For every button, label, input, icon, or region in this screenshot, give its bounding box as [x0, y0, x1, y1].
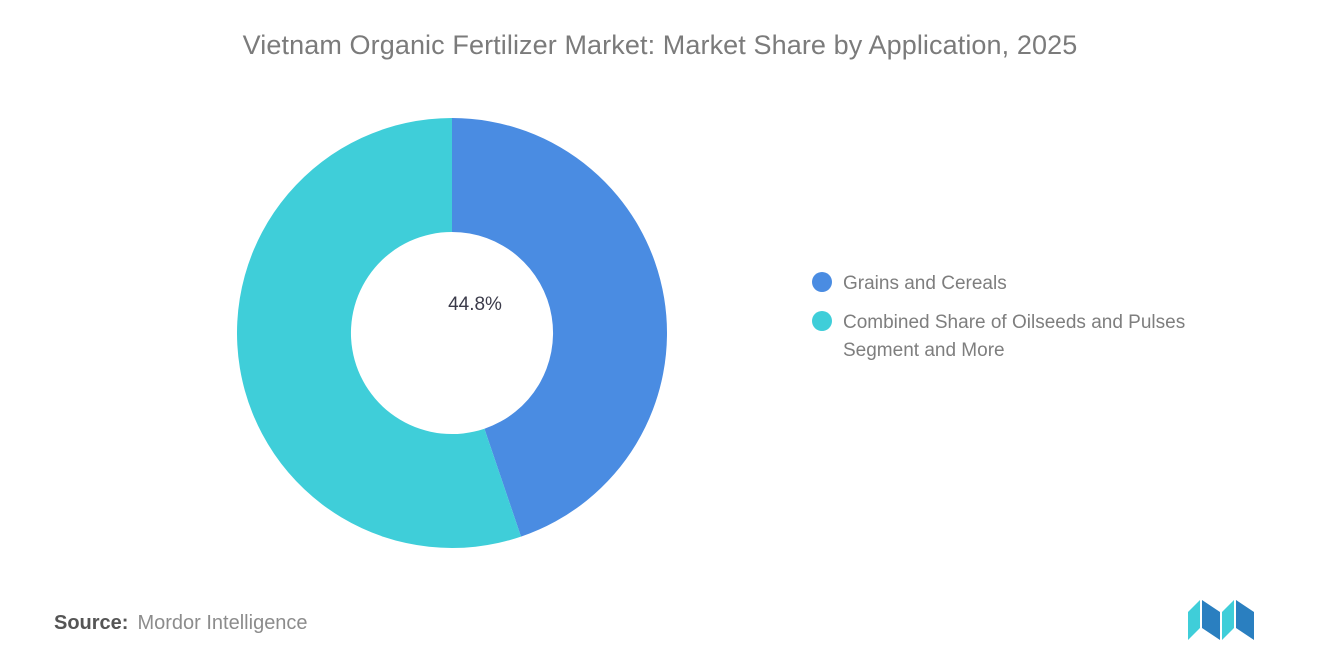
source-label: Source:: [54, 612, 128, 635]
legend-item-combined-share[interactable]: Combined Share of Oilseeds and Pulses Se…: [812, 309, 1282, 365]
donut-svg: [237, 118, 667, 548]
legend-swatch-icon-grains: [812, 272, 832, 292]
chart-legend: Grains and Cereals Combined Share of Oil…: [812, 270, 1282, 376]
donut-chart: 44.8%: [237, 118, 667, 548]
legend-item-grains-and-cereals[interactable]: Grains and Cereals: [812, 270, 1282, 298]
donut-slice-group: [237, 118, 667, 548]
legend-swatch-icon-combined: [812, 311, 832, 331]
source-line: Source: Mordor Intelligence: [54, 612, 308, 635]
legend-label-grains: Grains and Cereals: [843, 270, 1007, 298]
mordor-intelligence-logo-icon: [1186, 598, 1258, 642]
chart-page: Vietnam Organic Fertilizer Market: Marke…: [0, 0, 1320, 665]
logo-svg: [1186, 598, 1258, 642]
source-value: Mordor Intelligence: [137, 612, 307, 635]
page-title: Vietnam Organic Fertilizer Market: Marke…: [0, 30, 1320, 61]
legend-label-combined: Combined Share of Oilseeds and Pulses Se…: [843, 309, 1253, 365]
